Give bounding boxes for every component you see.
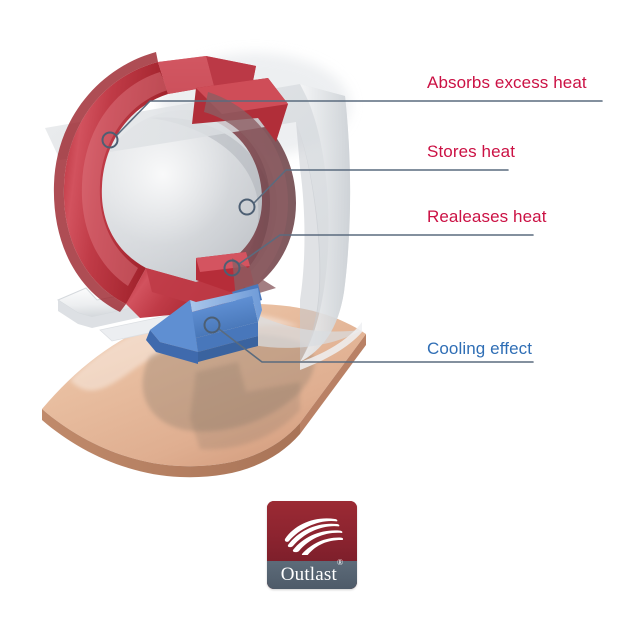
logo-wordmark: Outlast®: [281, 565, 344, 584]
outlast-logo: Outlast®: [267, 501, 357, 589]
swoosh-icon: [281, 511, 343, 555]
diagram-canvas: Absorbs excess heat Stores heat Realease…: [0, 0, 625, 625]
callout-label-absorbs-excess-heat: Absorbs excess heat: [427, 73, 587, 93]
logo-top-panel: [267, 501, 357, 561]
registered-trademark-icon: ®: [337, 558, 343, 567]
callout-label-stores-heat: Stores heat: [427, 142, 515, 162]
callout-label-realeases-heat: Realeases heat: [427, 207, 547, 227]
logo-bottom-panel: Outlast®: [267, 561, 357, 589]
callout-label-cooling-effect: Cooling effect: [427, 339, 532, 359]
